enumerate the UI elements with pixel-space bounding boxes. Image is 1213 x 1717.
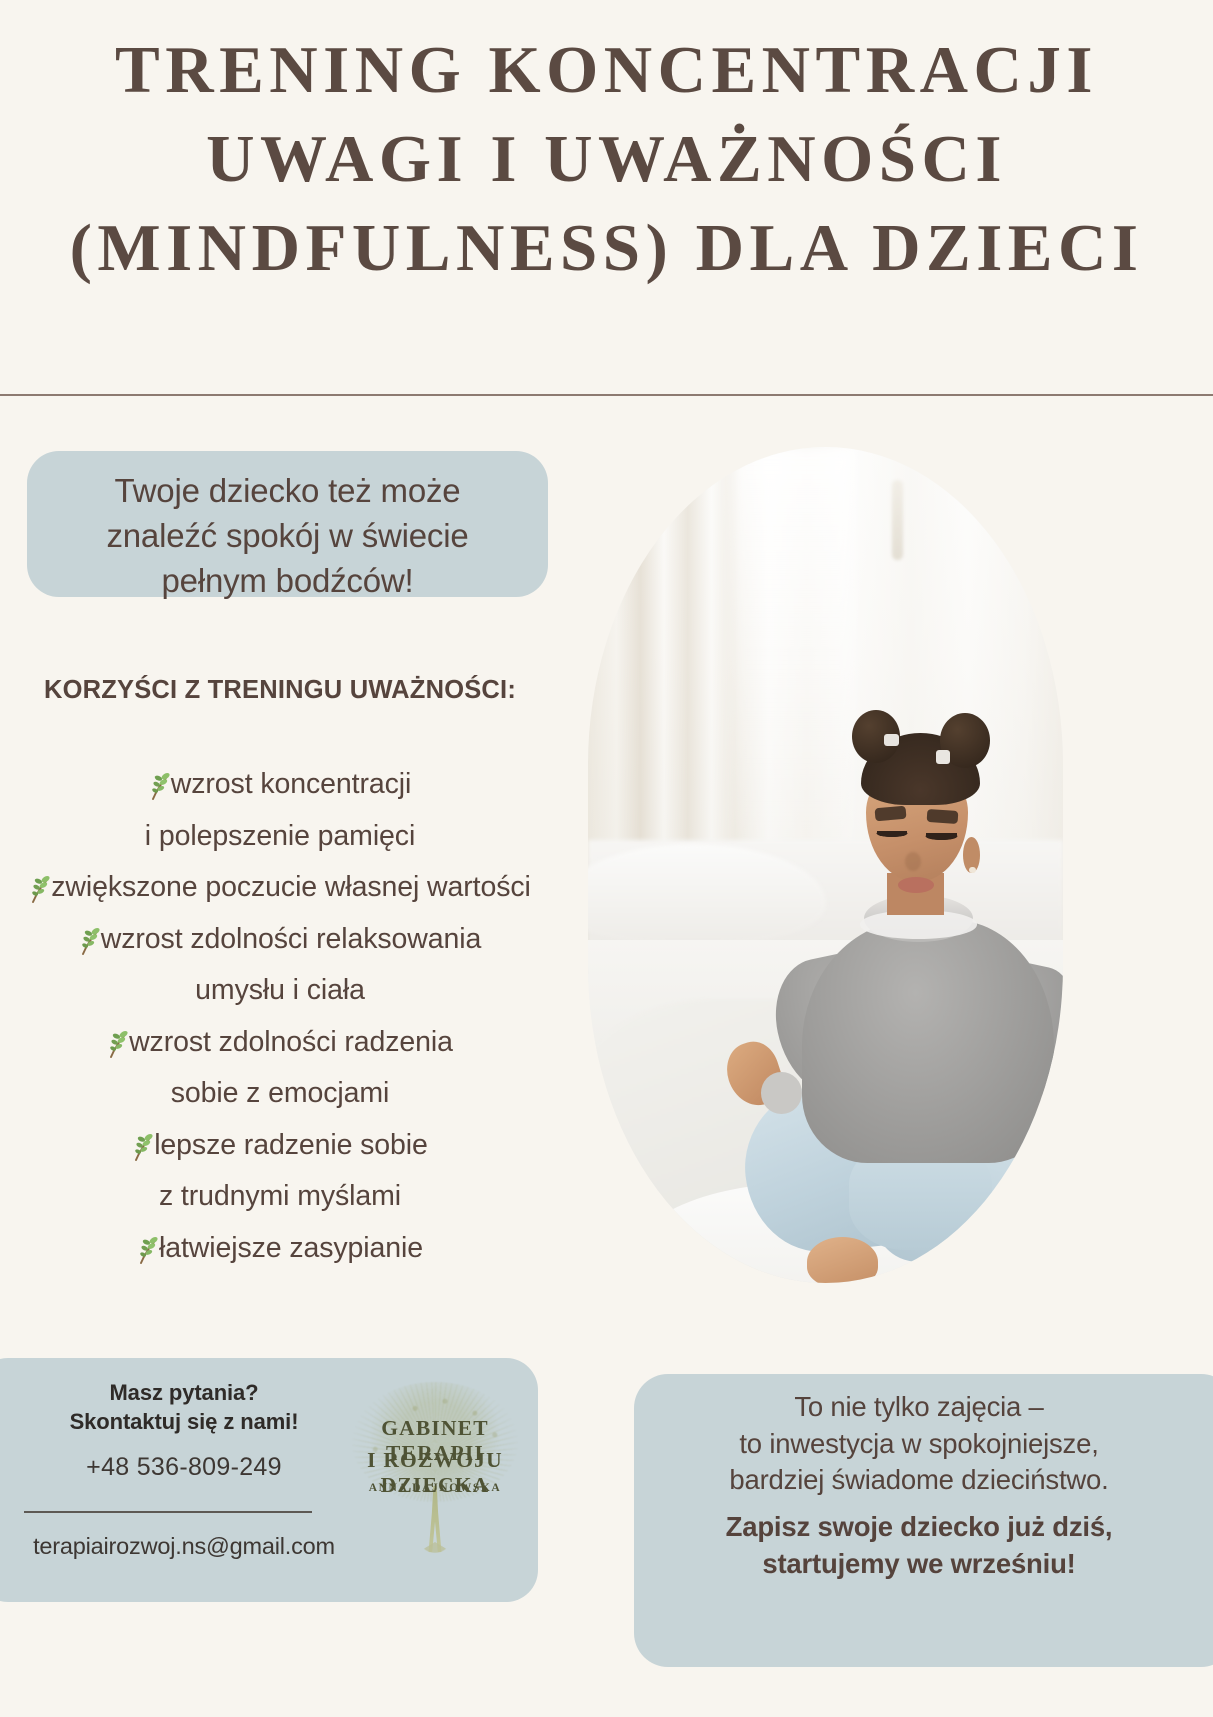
page-title-line-1: TRENING KONCENTRACJI [0,26,1213,115]
cta-lead-line-2: to inwestycja w spokojniejsze, [634,1426,1204,1463]
contact-question-line-1: Masz pytania? [24,1378,344,1407]
subtitle-card: Twoje dziecko też może znaleźć spokój w … [27,451,548,597]
cta-lead-line-1: To nie tylko zajęcia – [634,1389,1204,1426]
subtitle-line-1: Twoje dziecko też może [27,468,548,513]
cta-bold-line-2: startujemy we wrześniu! [634,1545,1204,1582]
benefit-item: lepsze radzenie sobie [0,1120,560,1172]
cta-bold-line-1: Zapisz swoje dziecko już dziś, [634,1508,1204,1545]
contact-divider [24,1511,312,1513]
benefit-item: zwiększone poczucie własnej wartości [0,862,560,914]
photo-content [588,447,1063,1283]
page-title: TRENING KONCENTRACJI UWAGI I UWAŻNOŚCI (… [0,26,1213,293]
contact-phone[interactable]: +48 536-809-249 [24,1453,344,1482]
logo-line-3: ANNA DAJNOWSKA [350,1482,520,1494]
benefit-item: i polepszenie pamięci [0,811,560,863]
benefit-item: wzrost zdolności radzenia [0,1017,560,1069]
benefit-item-label: umysłu i ciała [195,974,365,1006]
benefit-item: z trudnymi myślami [0,1171,560,1223]
benefit-item-label: łatwiejsze zasypianie [159,1232,423,1264]
mouth [898,877,934,893]
tree-roots-icon [383,1542,487,1582]
right-closed-eye [926,833,956,840]
right-hand [963,1220,1025,1274]
benefits-list: wzrost koncentracjii polepszenie pamięci… [0,759,560,1274]
page-title-line-3: (MINDFULNESS) DLA DZIECI [0,204,1213,293]
sprig-icon [79,921,101,951]
contact-email[interactable]: terapiairozwoj.ns@gmail.com [12,1533,356,1560]
sprig-icon [137,1230,159,1260]
cta-lead-text: To nie tylko zajęcia – to inwestycja w s… [634,1389,1204,1499]
sprig-icon [132,1127,154,1157]
benefit-item: wzrost koncentracji [0,759,560,811]
clinic-logo: GABINET TERAPII I ROZWOJU DZIECKA ANNA D… [350,1382,520,1582]
benefit-item-label: z trudnymi myślami [159,1180,401,1212]
subtitle-text: Twoje dziecko też może znaleźć spokój w … [27,468,548,604]
poster: TRENING KONCENTRACJI UWAGI I UWAŻNOŚCI (… [0,0,1213,1717]
benefit-item-label: wzrost koncentracji [171,768,411,800]
sprig-icon [107,1024,129,1054]
contact-question: Masz pytania? Skontaktuj się z nami! [24,1378,344,1437]
left-cuff [761,1072,801,1114]
benefit-item-label: sobie z emocjami [171,1077,390,1109]
subtitle-line-3: pełnym bodźców! [27,558,548,603]
benefit-item: wzrost zdolności relaksowania [0,914,560,966]
benefit-item-label: lepsze radzenie sobie [154,1129,428,1161]
benefit-item-label: wzrost zdolności relaksowania [101,923,481,955]
sprig-icon [149,766,171,796]
right-eyebrow [927,809,959,824]
right-hair-tie [936,750,950,763]
header-divider [0,394,1213,396]
grey-sweater [802,920,1054,1162]
page-title-line-2: UWAGI I UWAŻNOŚCI [0,115,1213,204]
bare-foot [807,1237,878,1283]
meditating-girl-photo [588,447,1063,1283]
earring [969,867,976,874]
benefit-item: łatwiejsze zasypianie [0,1223,560,1275]
subtitle-line-2: znaleźć spokój w świecie [27,513,548,558]
benefit-item-label: i polepszenie pamięci [145,820,415,852]
cta-lead-line-3: bardziej świadome dzieciństwo. [634,1462,1204,1499]
girl-figure [588,447,1063,1283]
cta-bold-text: Zapisz swoje dziecko już dziś, startujem… [634,1508,1204,1582]
benefit-item-label: wzrost zdolności radzenia [129,1026,453,1058]
benefit-item-label: zwiększone poczucie własnej wartości [51,871,531,903]
poster-header: TRENING KONCENTRACJI UWAGI I UWAŻNOŚCI (… [0,0,1213,396]
left-hair-tie [884,734,899,747]
benefits-heading: KORZYŚCI Z TRENINGU UWAŻNOŚCI: [0,676,560,705]
benefit-item: umysłu i ciała [0,965,560,1017]
contact-question-line-2: Skontaktuj się z nami! [24,1407,344,1436]
benefit-item: sobie z emocjami [0,1068,560,1120]
sprig-icon [29,869,51,899]
